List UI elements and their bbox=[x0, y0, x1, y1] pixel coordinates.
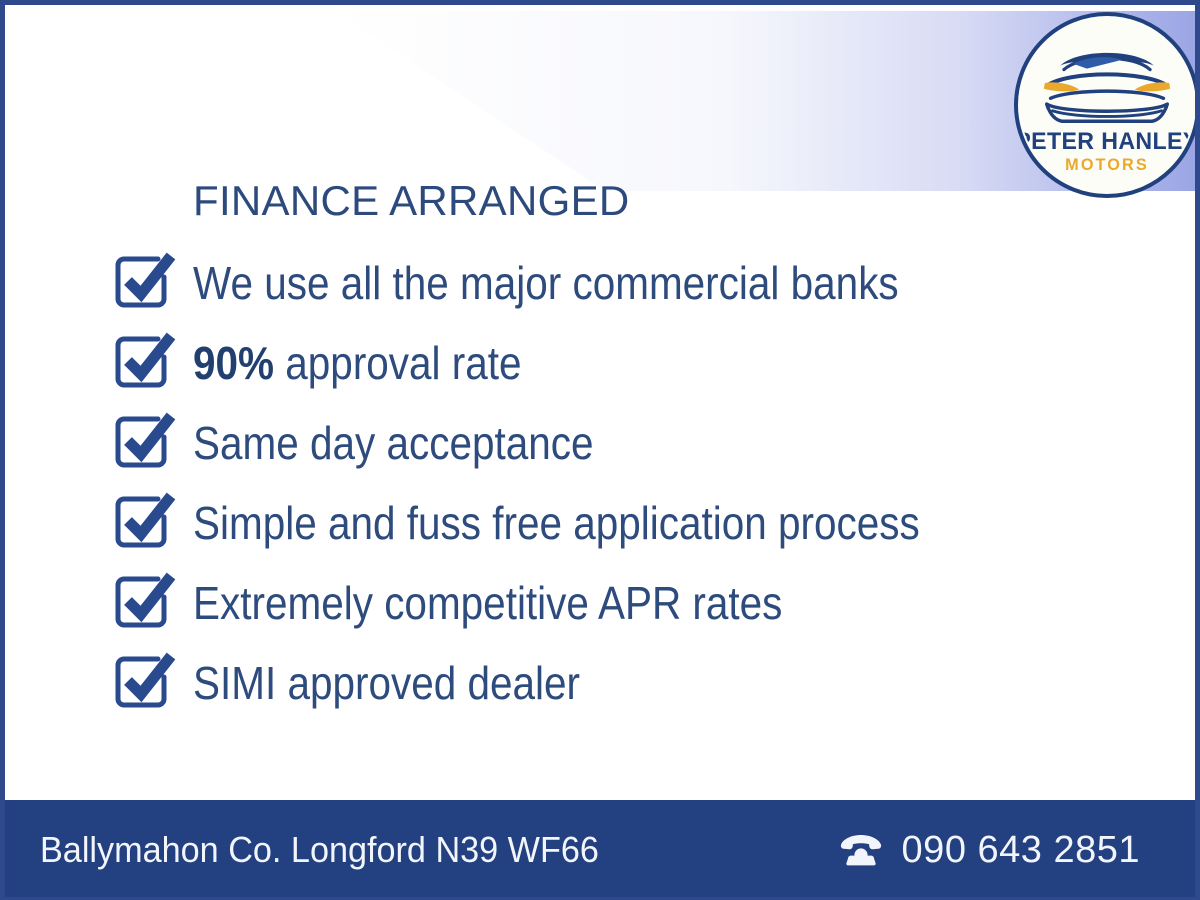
footer-address: Ballymahon Co. Longford N39 WF66 bbox=[40, 829, 599, 871]
checkbox-checked-icon bbox=[109, 567, 177, 635]
checkbox-checked-icon bbox=[109, 647, 177, 715]
checkbox-checked-icon bbox=[109, 327, 177, 395]
list-item-label: SIMI approved dealer bbox=[193, 659, 580, 707]
list-item: Simple and fuss free application process bbox=[109, 483, 1109, 563]
footer-contact-bar: Ballymahon Co. Longford N39 WF66 090 643… bbox=[0, 800, 1200, 900]
list-item: SIMI approved dealer bbox=[109, 643, 1109, 723]
list-item-label: We use all the major commercial banks bbox=[193, 259, 899, 307]
telephone-icon bbox=[838, 831, 884, 869]
footer-phone-group[interactable]: 090 643 2851 bbox=[838, 829, 1164, 872]
advertisement-banner: PETER HANLEY MOTORS FINANCE ARRANGED We … bbox=[0, 0, 1200, 900]
list-item: 90% approval rate bbox=[109, 323, 1109, 403]
list-item-highlight: 90% bbox=[193, 337, 274, 389]
logo-wordmark-primary: PETER HANLEY bbox=[1018, 127, 1196, 155]
list-item: Extremely competitive APR rates bbox=[109, 563, 1109, 643]
checkbox-checked-icon bbox=[109, 247, 177, 315]
logo-wordmark-secondary: MOTORS bbox=[1065, 156, 1149, 174]
list-item: Same day acceptance bbox=[109, 403, 1109, 483]
list-item-label: approval rate bbox=[274, 337, 522, 389]
footer-phone-number[interactable]: 090 643 2851 bbox=[902, 829, 1140, 872]
list-item-label: Simple and fuss free application process bbox=[193, 499, 920, 547]
page-title: FINANCE ARRANGED bbox=[193, 177, 630, 225]
list-item-label: Same day acceptance bbox=[193, 419, 594, 467]
dealer-logo: PETER HANLEY MOTORS bbox=[1014, 12, 1200, 198]
list-item-label: Extremely competitive APR rates bbox=[193, 579, 782, 627]
list-item: We use all the major commercial banks bbox=[109, 243, 1109, 323]
checkbox-checked-icon bbox=[109, 487, 177, 555]
feature-list: We use all the major commercial banks 90… bbox=[109, 243, 1109, 723]
list-item-label-group: 90% approval rate bbox=[193, 339, 522, 387]
checkbox-checked-icon bbox=[109, 407, 177, 475]
